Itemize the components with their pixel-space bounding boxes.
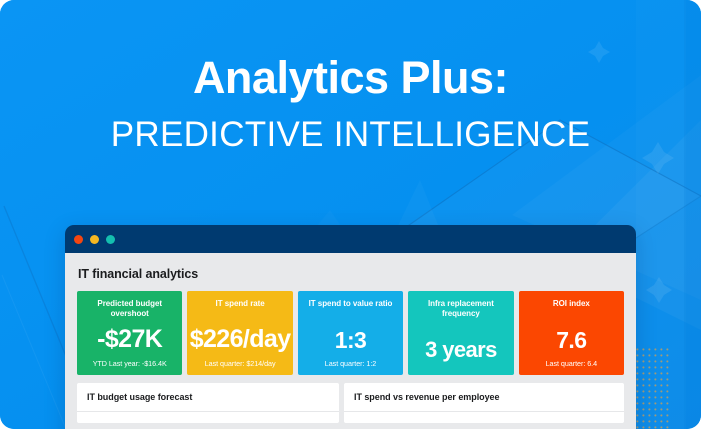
- kpi-card-row: Predicted budget overshoot -$27K YTD Las…: [77, 291, 624, 375]
- kpi-card-predicted-budget-overshoot[interactable]: Predicted budget overshoot -$27K YTD Las…: [77, 291, 182, 375]
- kpi-card-infra-replacement-frequency[interactable]: Infra replacement frequency 3 years: [408, 291, 513, 375]
- kpi-label: Infra replacement frequency: [412, 299, 509, 319]
- title-block: Analytics Plus: PREDICTIVE INTELLIGENCE: [0, 55, 701, 152]
- kpi-card-roi-index[interactable]: ROI index 7.6 Last quarter: 6.4: [519, 291, 624, 375]
- kpi-subtext: Last quarter: 1:2: [325, 359, 377, 368]
- window-titlebar: [65, 225, 636, 253]
- kpi-label: IT spend to value ratio: [309, 299, 393, 309]
- poster-canvas: Analytics Plus: PREDICTIVE INTELLIGENCE …: [0, 0, 701, 429]
- kpi-subtext: YTD Last year: -$16.4K: [93, 359, 167, 368]
- panel-title: IT budget usage forecast: [77, 383, 339, 402]
- panel-it-spend-vs-revenue-per-employee[interactable]: IT spend vs revenue per employee: [344, 383, 624, 423]
- kpi-label: Predicted budget overshoot: [81, 299, 178, 319]
- kpi-value: -$27K: [97, 327, 162, 352]
- kpi-value: $226/day: [190, 327, 291, 352]
- kpi-value: 3 years: [425, 339, 497, 361]
- panel-divider: [344, 411, 624, 412]
- panel-title: IT spend vs revenue per employee: [344, 383, 624, 402]
- page-title: Analytics Plus:: [0, 55, 701, 100]
- panel-it-budget-usage-forecast[interactable]: IT budget usage forecast: [77, 383, 339, 423]
- kpi-card-it-spend-to-value-ratio[interactable]: IT spend to value ratio 1:3 Last quarter…: [298, 291, 403, 375]
- dashboard-heading: IT financial analytics: [78, 267, 624, 281]
- kpi-card-it-spend-rate[interactable]: IT spend rate $226/day Last quarter: $21…: [187, 291, 292, 375]
- kpi-subtext: Last quarter: $214/day: [205, 359, 276, 368]
- kpi-value: 7.6: [556, 329, 586, 352]
- kpi-label: ROI index: [553, 299, 590, 309]
- panel-divider: [77, 411, 339, 412]
- kpi-subtext: Last quarter: 6.4: [546, 359, 598, 368]
- dashboard-body: IT financial analytics Predicted budget …: [65, 253, 636, 429]
- kpi-label: IT spend rate: [216, 299, 265, 309]
- close-icon[interactable]: [74, 235, 83, 244]
- browser-window: IT financial analytics Predicted budget …: [65, 225, 636, 429]
- chart-panel-row: IT budget usage forecast IT spend vs rev…: [77, 383, 624, 423]
- kpi-value: 1:3: [335, 329, 366, 352]
- page-subtitle: PREDICTIVE INTELLIGENCE: [0, 117, 701, 152]
- minimize-icon[interactable]: [90, 235, 99, 244]
- maximize-icon[interactable]: [106, 235, 115, 244]
